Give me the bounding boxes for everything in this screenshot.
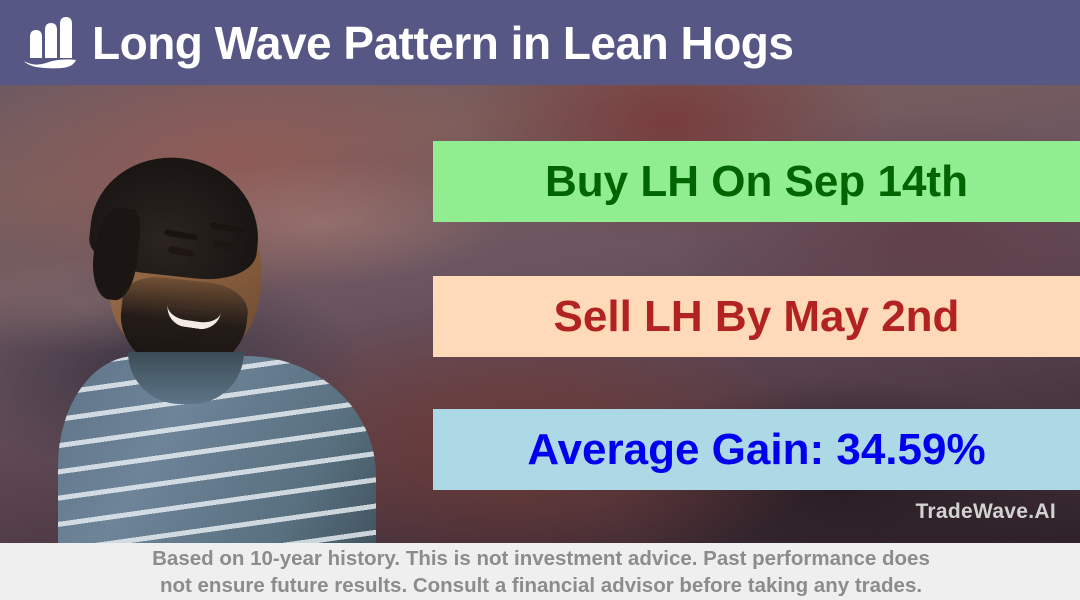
disclaimer-line-1: Based on 10-year history. This is not in… (12, 545, 1070, 572)
poster-canvas: Long Wave Pattern in Lean Hogs Buy LH On… (0, 0, 1080, 600)
sell-callout-label: Sell LH By May 2nd (554, 292, 960, 342)
page-title: Long Wave Pattern in Lean Hogs (92, 20, 793, 66)
buy-callout: Buy LH On Sep 14th (433, 141, 1080, 222)
sell-callout: Sell LH By May 2nd (433, 276, 1080, 357)
wave-bars-logo-icon (22, 17, 80, 69)
buy-callout-label: Buy LH On Sep 14th (545, 157, 968, 207)
average-gain-callout: Average Gain: 34.59% (433, 409, 1080, 490)
header-bar: Long Wave Pattern in Lean Hogs (0, 0, 1080, 85)
average-gain-label: Average Gain: 34.59% (527, 425, 985, 475)
disclaimer-line-2: not ensure future results. Consult a fin… (12, 572, 1070, 599)
brand-watermark: TradeWave.AI (915, 500, 1056, 524)
disclaimer-bar: Based on 10-year history. This is not in… (0, 543, 1080, 600)
